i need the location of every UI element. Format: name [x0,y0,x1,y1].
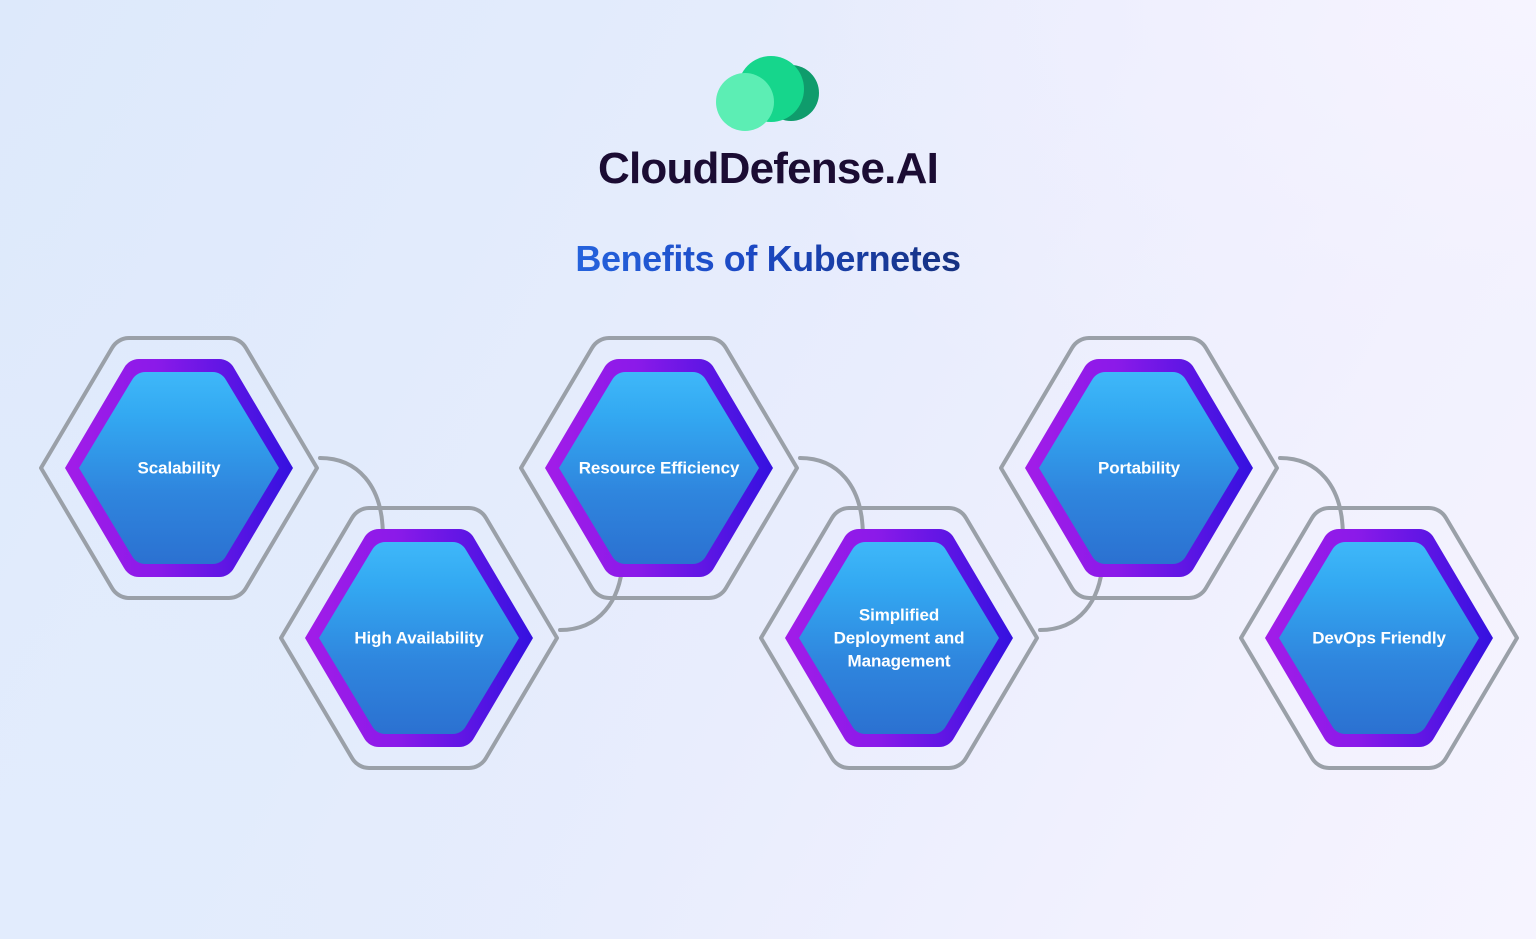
hex-node-simplified-deployment[interactable]: Simplified Deployment and Management [761,508,1037,768]
hex-node-scalability[interactable]: Scalability [41,338,317,598]
hex-node-label: Resource Efficiency [579,458,740,477]
cloud-three-circles-icon [708,55,828,133]
brand-wordmark: CloudDefense.AI [598,147,938,191]
hex-node-portability[interactable]: Portability [1001,338,1277,598]
hex-node-resource-efficiency[interactable]: Resource Efficiency [521,338,797,598]
header: CloudDefense.AI Benefits of Kubernetes [0,0,1536,277]
brand-logo: CloudDefense.AI [598,55,938,191]
page-title: Benefits of Kubernetes [575,241,960,277]
hex-node-high-availability[interactable]: High Availability [281,508,557,768]
hex-node-label: High Availability [354,628,484,647]
hex-node-label: Portability [1098,458,1181,477]
hex-node-label-line2: Deployment and [834,628,965,647]
hex-node-label-line3: Management [848,651,951,670]
hex-node-label: Scalability [138,458,222,477]
hex-node-label: DevOps Friendly [1312,628,1446,647]
hex-node-devops-friendly[interactable]: DevOps Friendly [1241,508,1517,768]
benefits-hexagon-diagram: Scalability High Availability Resource E… [0,330,1536,830]
hex-node-label-line1: Simplified [859,605,939,624]
